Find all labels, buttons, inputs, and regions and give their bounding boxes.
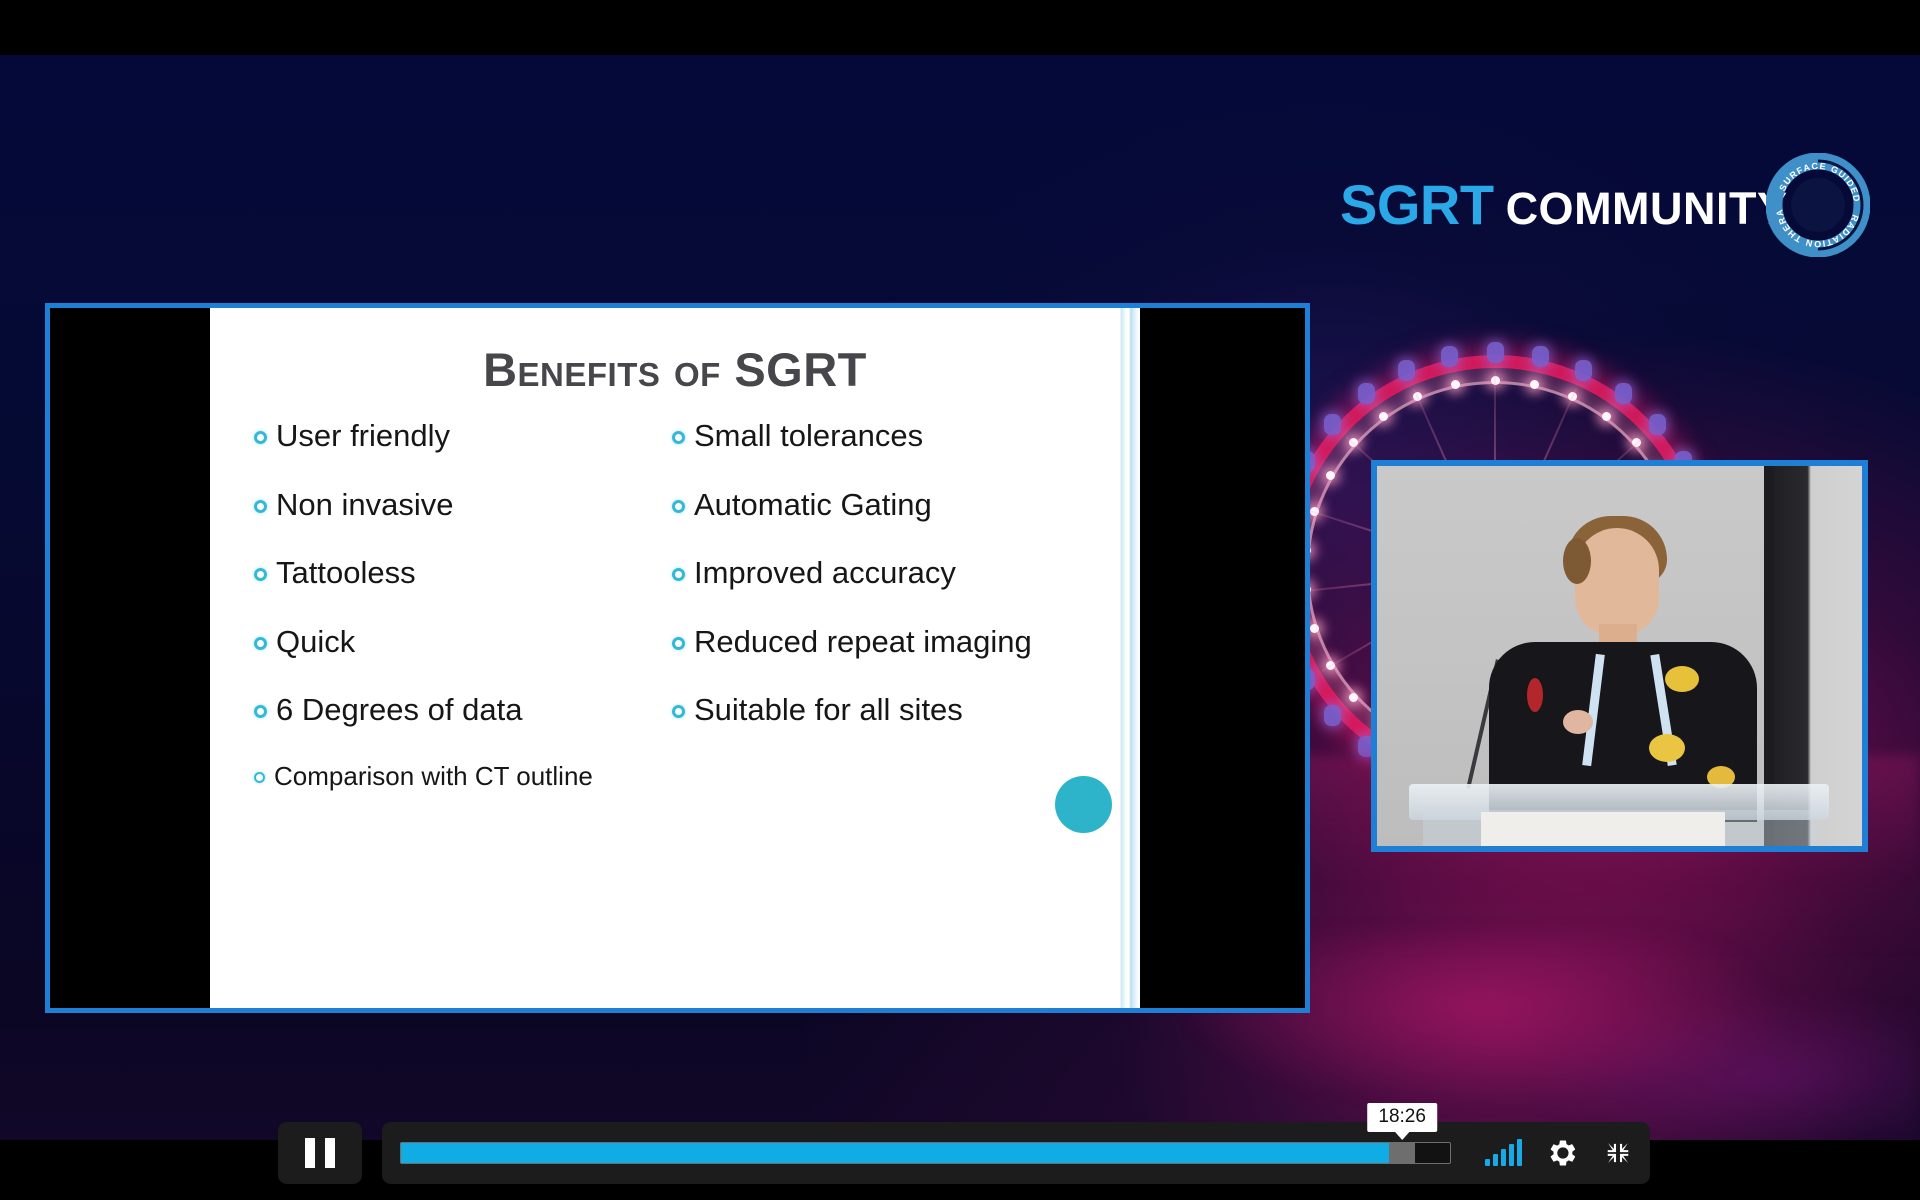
ferris-wheel-pod <box>1649 414 1666 435</box>
bullet-item: Suitable for all sites <box>672 694 1110 727</box>
signal-bars-icon <box>1485 1140 1522 1166</box>
bullet-label: Comparison with CT outline <box>274 763 593 790</box>
bullet-circle-icon <box>672 568 685 581</box>
speaker-hair-bun <box>1563 538 1591 584</box>
controls-tray: 18:26 <box>382 1122 1650 1184</box>
sgrt-community-logo: SGRTCOMMUNITY SURFACE GUIDED RADIATION <box>1340 167 1870 243</box>
bullet-circle-icon <box>254 500 267 513</box>
fullscreen-toggle-button[interactable] <box>1604 1139 1632 1167</box>
bullet-item: User friendly <box>254 420 644 453</box>
ferris-wheel-light <box>1326 471 1335 480</box>
quality-button[interactable] <box>1485 1140 1522 1166</box>
slide-edge-stripes <box>1116 308 1140 1008</box>
bullet-label: Suitable for all sites <box>694 694 963 727</box>
pause-icon-bar-left <box>305 1138 315 1168</box>
video-stage: SGRTCOMMUNITY SURFACE GUIDED RADIATION <box>0 55 1920 1140</box>
ferris-wheel-light <box>1632 438 1641 447</box>
bullet-circle-icon <box>254 772 265 783</box>
ferris-wheel-pod <box>1324 705 1341 726</box>
gear-icon <box>1548 1138 1578 1168</box>
settings-button[interactable] <box>1548 1138 1578 1168</box>
bullet-circle-icon <box>254 705 267 718</box>
bullet-item: Quick <box>254 626 644 659</box>
bullet-item: 6 Degrees of data <box>254 694 644 727</box>
progress-handle[interactable] <box>1389 1143 1415 1163</box>
dress-flower <box>1649 734 1685 762</box>
bullet-item: Reduced repeat imaging <box>672 626 1110 659</box>
logo-community-text: COMMUNITY <box>1506 183 1788 234</box>
pip-scene <box>1377 466 1862 846</box>
progress-scrubber[interactable]: 18:26 <box>400 1142 1451 1164</box>
surface-guided-radiation-therapy-badge-icon: SURFACE GUIDED RADIATION THERAPY <box>1766 153 1870 257</box>
slide-bullet-columns: User friendly Non invasive Tattooless <box>254 420 1110 826</box>
ferris-wheel-pod <box>1575 360 1592 381</box>
bullet-circle-icon <box>672 705 685 718</box>
tray-actions <box>1485 1138 1632 1168</box>
bullet-label: Quick <box>276 626 355 659</box>
ferris-wheel-light <box>1349 693 1358 702</box>
ferris-wheel-light <box>1568 392 1577 401</box>
ferris-wheel-pod <box>1615 383 1632 404</box>
lectern-body <box>1481 812 1725 852</box>
ferris-wheel-light <box>1310 624 1319 633</box>
video-player-page: SGRTCOMMUNITY SURFACE GUIDED RADIATION <box>0 0 1920 1200</box>
player-control-bar: 18:26 <box>0 1140 1920 1200</box>
ferris-wheel-light <box>1451 380 1460 389</box>
slide-title: Benefits of SGRT <box>210 342 1140 397</box>
speaker-camera-feed[interactable] <box>1371 460 1868 852</box>
ferris-wheel-light <box>1413 392 1422 401</box>
bullet-label: Small tolerances <box>694 420 923 453</box>
ferris-wheel-pod <box>1487 342 1504 363</box>
bullet-circle-icon <box>672 637 685 650</box>
dress-flower <box>1563 710 1593 734</box>
bullet-label: Automatic Gating <box>694 489 932 522</box>
bullet-item: Non invasive <box>254 489 644 522</box>
ferris-wheel-pod <box>1532 346 1549 367</box>
dress-flower <box>1527 678 1543 712</box>
ferris-wheel-light <box>1326 661 1335 670</box>
bullet-item: Automatic Gating <box>672 489 1110 522</box>
bullet-label: User friendly <box>276 420 450 453</box>
dress-flower <box>1665 666 1699 692</box>
slide-accent-dot <box>1055 776 1112 833</box>
speaker-head <box>1575 528 1659 636</box>
ferris-wheel-pod <box>1441 346 1458 367</box>
bullet-label: Non invasive <box>276 489 453 522</box>
bullet-circle-icon <box>672 431 685 444</box>
bullet-item: Comparison with CT outline <box>254 763 644 790</box>
bullet-circle-icon <box>672 500 685 513</box>
exit-fullscreen-icon <box>1604 1139 1632 1167</box>
bullet-label: Improved accuracy <box>694 557 956 590</box>
ferris-wheel-pod <box>1358 383 1375 404</box>
bullet-circle-icon <box>254 568 267 581</box>
slide-canvas: Benefits of SGRT User friendly Non invas… <box>210 308 1140 1008</box>
presentation-slide: Benefits of SGRT User friendly Non invas… <box>45 303 1310 1013</box>
bullet-item: Improved accuracy <box>672 557 1110 590</box>
progress-fill <box>401 1143 1389 1163</box>
ferris-wheel-light <box>1530 380 1539 389</box>
pause-button[interactable] <box>278 1122 362 1184</box>
bullet-label: Reduced repeat imaging <box>694 626 1032 659</box>
bullet-circle-icon <box>254 637 267 650</box>
pause-icon-bar-right <box>325 1138 335 1168</box>
bullet-column-right: Small tolerances Automatic Gating Improv… <box>672 420 1110 826</box>
ferris-wheel-light <box>1602 412 1611 421</box>
slide-inner: Benefits of SGRT User friendly Non invas… <box>50 308 1305 1008</box>
bullet-circle-icon <box>254 431 267 444</box>
bullet-label: Tattooless <box>276 557 416 590</box>
bullet-label: 6 Degrees of data <box>276 694 522 727</box>
ferris-wheel-light <box>1379 412 1388 421</box>
ferris-wheel-light <box>1310 507 1319 516</box>
letterbox-top <box>0 0 1920 55</box>
bullet-column-left: User friendly Non invasive Tattooless <box>254 420 644 826</box>
time-tooltip: 18:26 <box>1367 1103 1437 1132</box>
ferris-wheel-light <box>1349 438 1358 447</box>
bullet-item: Tattooless <box>254 557 644 590</box>
bullet-item: Small tolerances <box>672 420 1110 453</box>
ferris-wheel-light <box>1491 376 1500 385</box>
logo-wordmark: SGRTCOMMUNITY <box>1340 177 1788 233</box>
ferris-wheel-pod <box>1398 360 1415 381</box>
ferris-wheel-pod <box>1324 414 1341 435</box>
logo-sgrt-text: SGRT <box>1340 173 1494 236</box>
